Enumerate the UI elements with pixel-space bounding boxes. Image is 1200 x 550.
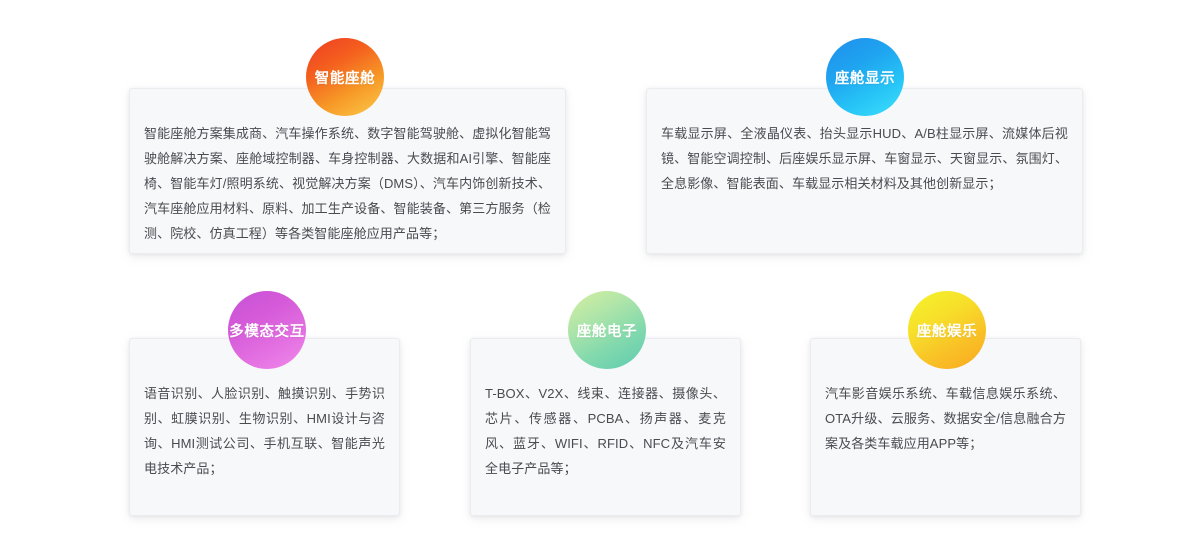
card-body-cockpit-entertainment: 汽车影音娱乐系统、车载信息娱乐系统、OTA升级、云服务、数据安全/信息融合方案及… (825, 381, 1066, 456)
category-bubble-multimodal-interaction[interactable]: 多模态交互 (228, 291, 306, 369)
bubble-label-multimodal-interaction: 多模态交互 (229, 320, 305, 341)
category-bubble-cockpit-entertainment[interactable]: 座舱娱乐 (908, 291, 986, 369)
card-body-cockpit-display: 车载显示屏、全液晶仪表、抬头显示HUD、A/B柱显示屏、流媒体后视镜、智能空调控… (661, 121, 1068, 196)
card-body-multimodal-interaction: 语音识别、人脸识别、触摸识别、手势识别、虹膜识别、生物识别、HMI设计与咨询、H… (144, 381, 385, 481)
category-bubble-cockpit-display[interactable]: 座舱显示 (826, 38, 904, 116)
bubble-label-cockpit-display: 座舱显示 (835, 67, 895, 88)
card-body-smart-cockpit: 智能座舱方案集成商、汽车操作系统、数字智能驾驶舱、虚拟化智能驾驶舱解决方案、座舱… (144, 121, 551, 246)
card-body-cockpit-electronics: T-BOX、V2X、线束、连接器、摄像头、芯片、传感器、PCBA、扬声器、麦克风… (485, 381, 726, 481)
category-bubble-smart-cockpit[interactable]: 智能座舱 (306, 38, 384, 116)
bubble-label-cockpit-entertainment: 座舱娱乐 (917, 320, 977, 341)
category-board: 智能座舱方案集成商、汽车操作系统、数字智能驾驶舱、虚拟化智能驾驶舱解决方案、座舱… (0, 0, 1200, 550)
category-bubble-cockpit-electronics[interactable]: 座舱电子 (568, 291, 646, 369)
bubble-label-smart-cockpit: 智能座舱 (315, 67, 375, 88)
bubble-label-cockpit-electronics: 座舱电子 (577, 320, 637, 341)
